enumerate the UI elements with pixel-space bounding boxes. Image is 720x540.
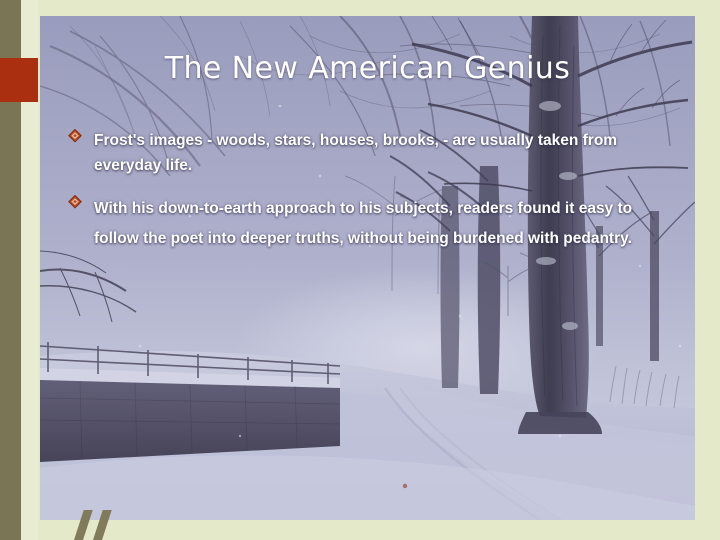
list-item-text: With his down-to-earth approach to his s… <box>94 194 668 254</box>
list-item-text: Frost's images - woods, stars, houses, b… <box>94 128 668 178</box>
road-speck <box>403 484 407 488</box>
presentation-slide: The New American Genius Frost's images -… <box>0 0 720 540</box>
red-accent-block <box>0 58 38 102</box>
list-item[interactable]: With his down-to-earth approach to his s… <box>68 194 668 254</box>
wingding-pennant-bullet-icon <box>68 194 86 209</box>
list-item[interactable]: Frost's images - woods, stars, houses, b… <box>68 128 668 178</box>
slide-body: Frost's images - woods, stars, houses, b… <box>68 128 668 270</box>
wingding-pennant-bullet-icon <box>68 128 86 143</box>
slide-title: The New American Genius <box>40 52 695 85</box>
